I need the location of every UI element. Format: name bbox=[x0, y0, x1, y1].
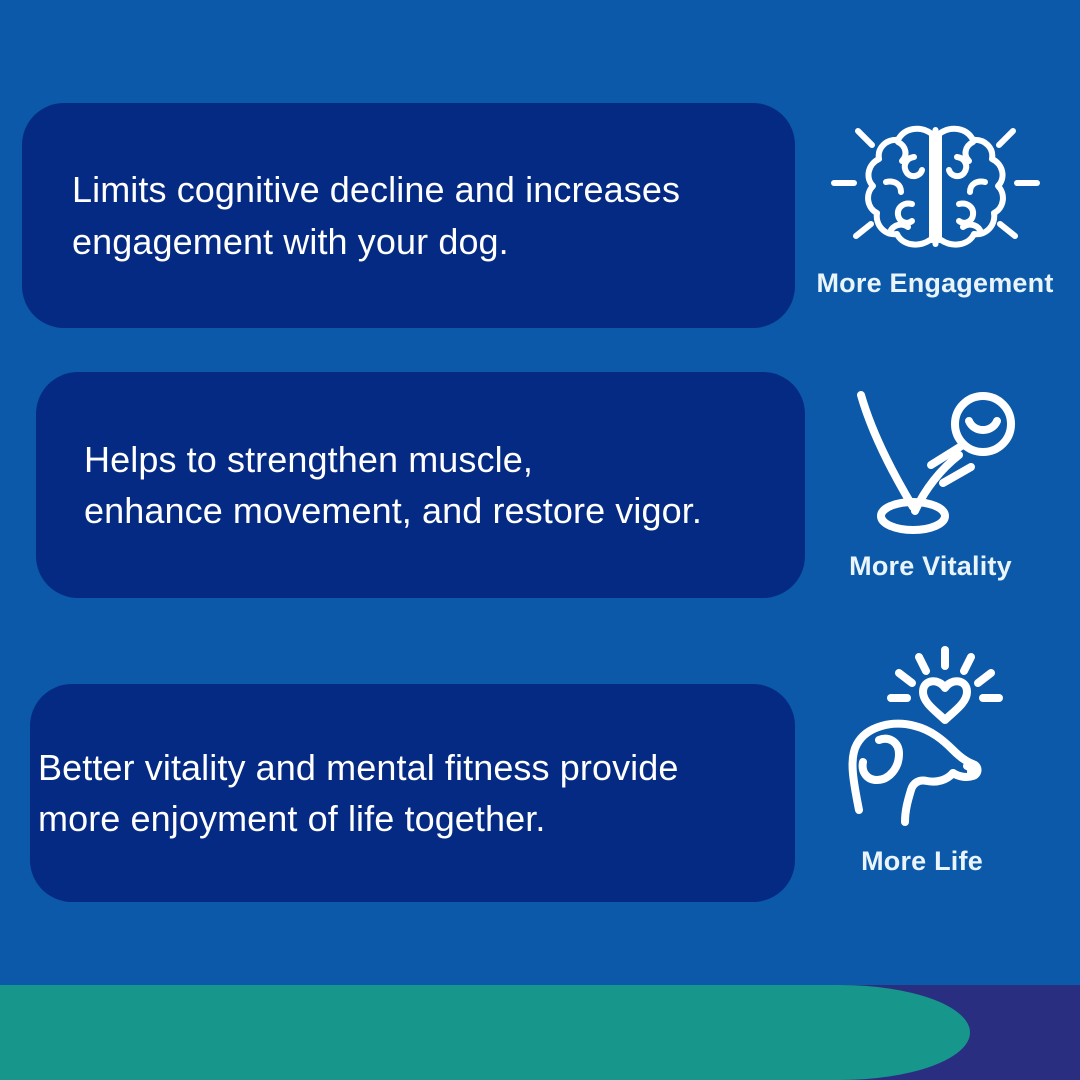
dog-head-with-heart-icon bbox=[827, 640, 1017, 840]
brain-icon bbox=[828, 112, 1043, 262]
benefit-icon-block-1: More Engagement bbox=[817, 112, 1053, 299]
bouncing-ball-icon bbox=[843, 385, 1018, 545]
benefit-icon-label-3: More Life bbox=[861, 846, 983, 877]
benefit-icon-block-3: More Life bbox=[848, 640, 996, 877]
benefit-icon-label-2: More Vitality bbox=[849, 551, 1012, 582]
benefit-card-2: Helps to strengthen muscle, enhance move… bbox=[36, 372, 805, 598]
benefit-card-3-text: Better vitality and mental fitness provi… bbox=[30, 742, 693, 844]
benefit-card-1: Limits cognitive decline and increases e… bbox=[22, 103, 795, 328]
bottom-decorative-band bbox=[0, 985, 1080, 1080]
benefit-icon-label-1: More Engagement bbox=[816, 268, 1053, 299]
benefit-card-2-text: Helps to strengthen muscle, enhance move… bbox=[36, 434, 728, 536]
benefit-icon-block-2: More Vitality bbox=[843, 385, 1018, 582]
benefit-card-3: Better vitality and mental fitness provi… bbox=[30, 684, 795, 902]
benefits-infographic: Limits cognitive decline and increases e… bbox=[0, 0, 1080, 1080]
bottom-teal-shape bbox=[0, 985, 970, 1080]
benefit-card-1-text: Limits cognitive decline and increases e… bbox=[22, 164, 710, 266]
